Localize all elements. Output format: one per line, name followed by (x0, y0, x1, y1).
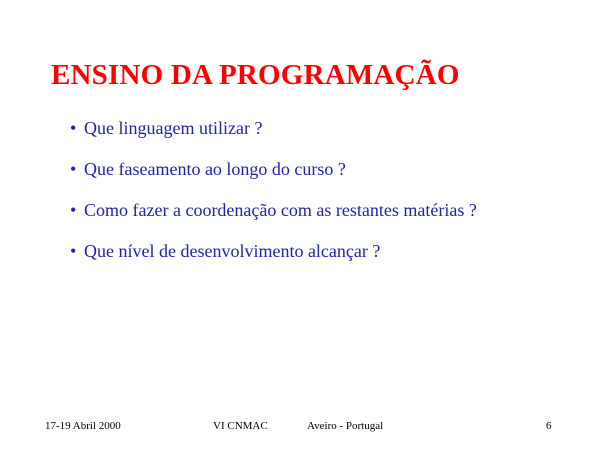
bullet-dot-icon: • (70, 200, 76, 221)
list-item-label: Que faseamento ao longo do curso ? (84, 159, 346, 179)
bullet-dot-icon: • (70, 118, 76, 139)
footer-event-name: VI CNMAC (213, 419, 268, 433)
presentation-slide: ENSINO DA PROGRAMAÇÃO • Que linguagem ut… (0, 0, 600, 450)
bullet-list: • Que linguagem utilizar ? • Que faseame… (70, 118, 580, 282)
list-item: • Que nível de desenvolvimento alcançar … (70, 241, 580, 282)
list-item-label: Como fazer a coordenação com as restante… (84, 200, 477, 220)
list-item: • Que linguagem utilizar ? (70, 118, 580, 159)
slide-footer: 17-19 Abril 2000 VI CNMAC Aveiro - Portu… (0, 419, 600, 439)
list-item: • Que faseamento ao longo do curso ? (70, 159, 580, 200)
footer-location: Aveiro - Portugal (307, 419, 383, 433)
footer-date: 17-19 Abril 2000 (45, 419, 121, 433)
list-item-label: Que nível de desenvolvimento alcançar ? (84, 241, 380, 261)
footer-page-number: 6 (546, 419, 552, 433)
bullet-dot-icon: • (70, 241, 76, 262)
list-item: • Como fazer a coordenação com as restan… (70, 200, 580, 241)
bullet-dot-icon: • (70, 159, 76, 180)
list-item-label: Que linguagem utilizar ? (84, 118, 262, 138)
page-title: ENSINO DA PROGRAMAÇÃO (51, 61, 460, 90)
